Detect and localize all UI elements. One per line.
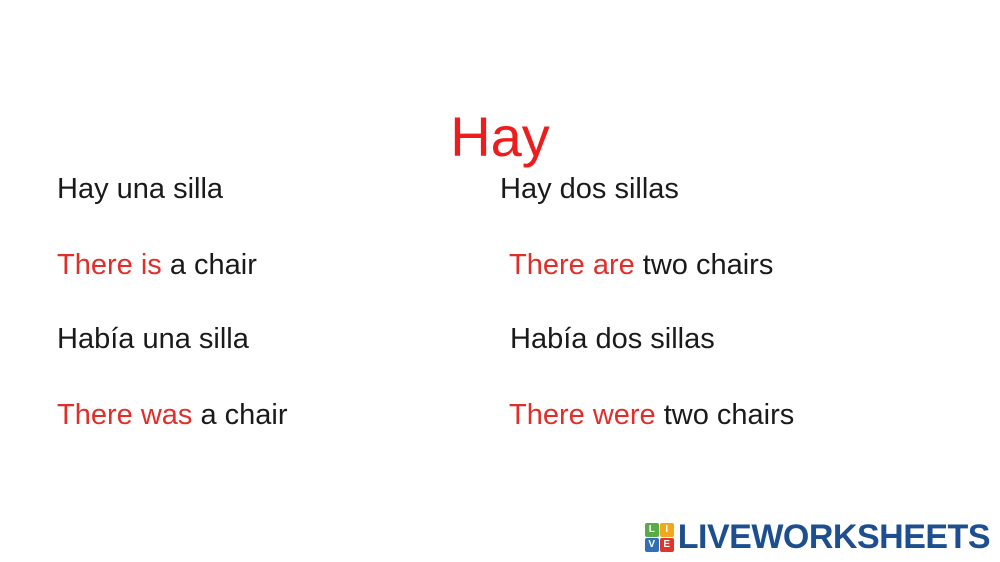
sentence-row: There is a chair	[57, 251, 487, 280]
sentence-row: Había dos sillas	[500, 325, 960, 354]
english-text: a chair	[192, 399, 287, 431]
english-verb-phrase: There is	[57, 249, 162, 281]
sentence-row: There are two chairs	[500, 251, 960, 280]
spanish-text: Hay una silla	[57, 173, 223, 205]
spanish-text: Había una silla	[57, 323, 249, 355]
page-title: Hay	[0, 108, 1000, 167]
english-verb-phrase: There were	[509, 399, 656, 431]
worksheet-slide: Hay Hay una silla There is a chair Había…	[0, 0, 1000, 562]
logo-wordmark: LIVEWORKSHEETS	[678, 520, 990, 554]
liveworksheets-mark-icon: L I V E	[645, 523, 674, 552]
english-verb-phrase: There are	[509, 249, 635, 281]
english-text: a chair	[162, 249, 257, 281]
logo-tile-i: I	[660, 523, 674, 537]
sentence-row: Hay una silla	[57, 175, 487, 204]
english-verb-phrase: There was	[57, 399, 192, 431]
spanish-text: Había dos sillas	[510, 323, 715, 355]
liveworksheets-logo: L I V E LIVEWORKSHEETS	[645, 520, 990, 554]
english-text: two chairs	[656, 399, 795, 431]
logo-tile-v: V	[645, 538, 659, 552]
sentence-row: Hay dos sillas	[500, 175, 960, 204]
sentence-row: Había una silla	[57, 325, 487, 354]
english-text: two chairs	[635, 249, 774, 281]
logo-tile-e: E	[660, 538, 674, 552]
spanish-text: Hay dos sillas	[500, 173, 679, 205]
right-column: Hay dos sillas There are two chairs Habí…	[500, 175, 960, 430]
left-column: Hay una silla There is a chair Había una…	[57, 175, 487, 430]
sentence-row: There were two chairs	[500, 401, 960, 430]
sentence-row: There was a chair	[57, 401, 487, 430]
logo-tile-l: L	[645, 523, 659, 537]
